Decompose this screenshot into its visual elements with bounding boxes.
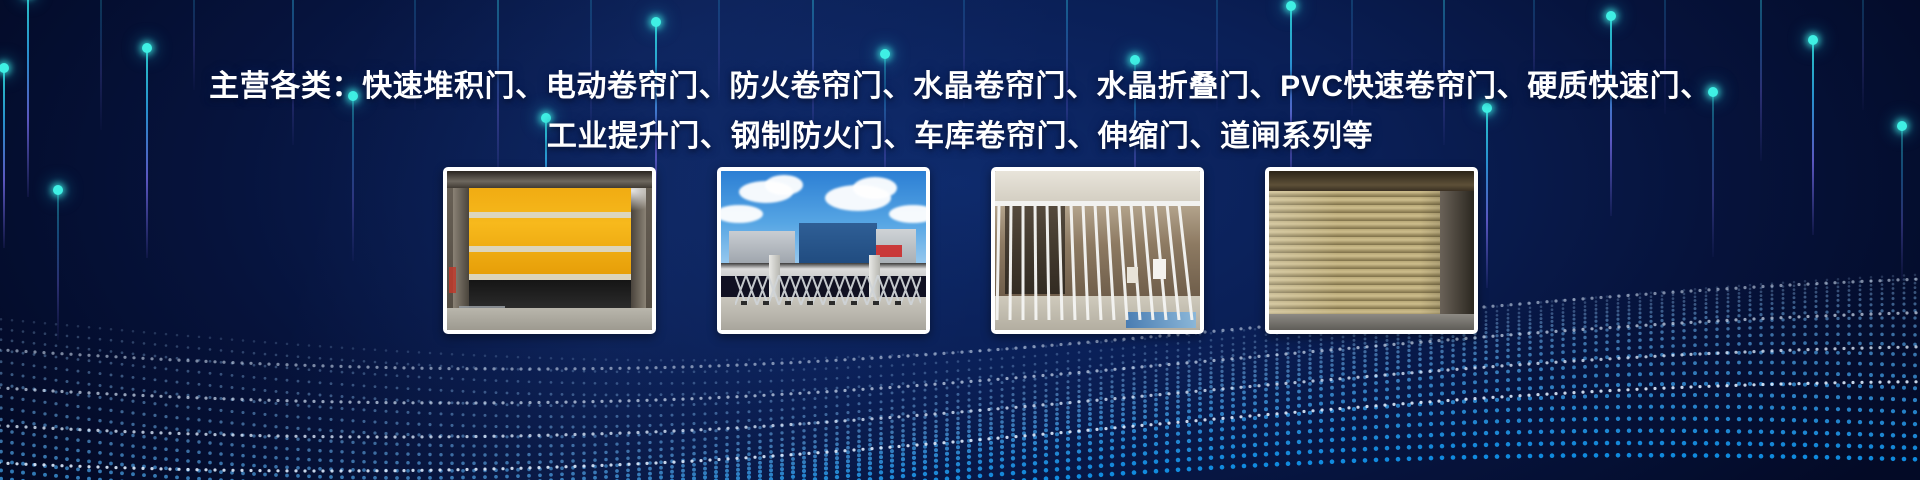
glow-dot-icon [142, 43, 152, 53]
photo-art [447, 171, 652, 330]
glow-dot-icon [651, 17, 661, 27]
photo-art [995, 171, 1200, 330]
product-photo-crystal-folding-door[interactable] [991, 167, 1204, 334]
glow-dot-icon [880, 49, 890, 59]
product-photo-yellow-high-speed-stacking-door[interactable] [443, 167, 656, 334]
headline-line-2: 工业提升门、钢制防火门、车库卷帘门、伸缩门、道闸系列等 [0, 112, 1920, 162]
product-photo-strip [0, 167, 1920, 334]
photo-art [1269, 171, 1474, 330]
headline-line-1: 主营各类：快速堆积门、电动卷帘门、防火卷帘门、水晶卷帘门、水晶折叠门、PVC快速… [0, 62, 1920, 112]
glow-dot-icon [1808, 35, 1818, 45]
product-photo-bronze-rolling-shutter[interactable] [1265, 167, 1478, 334]
promo-banner: 主营各类：快速堆积门、电动卷帘门、防火卷帘门、水晶卷帘门、水晶折叠门、PVC快速… [0, 0, 1920, 480]
photo-art [721, 171, 926, 330]
glow-dot-icon [1606, 11, 1616, 21]
product-photo-retractable-gate[interactable] [717, 167, 930, 334]
banner-headline: 主营各类：快速堆积门、电动卷帘门、防火卷帘门、水晶卷帘门、水晶折叠门、PVC快速… [0, 62, 1920, 162]
glow-dot-icon [1286, 1, 1296, 11]
